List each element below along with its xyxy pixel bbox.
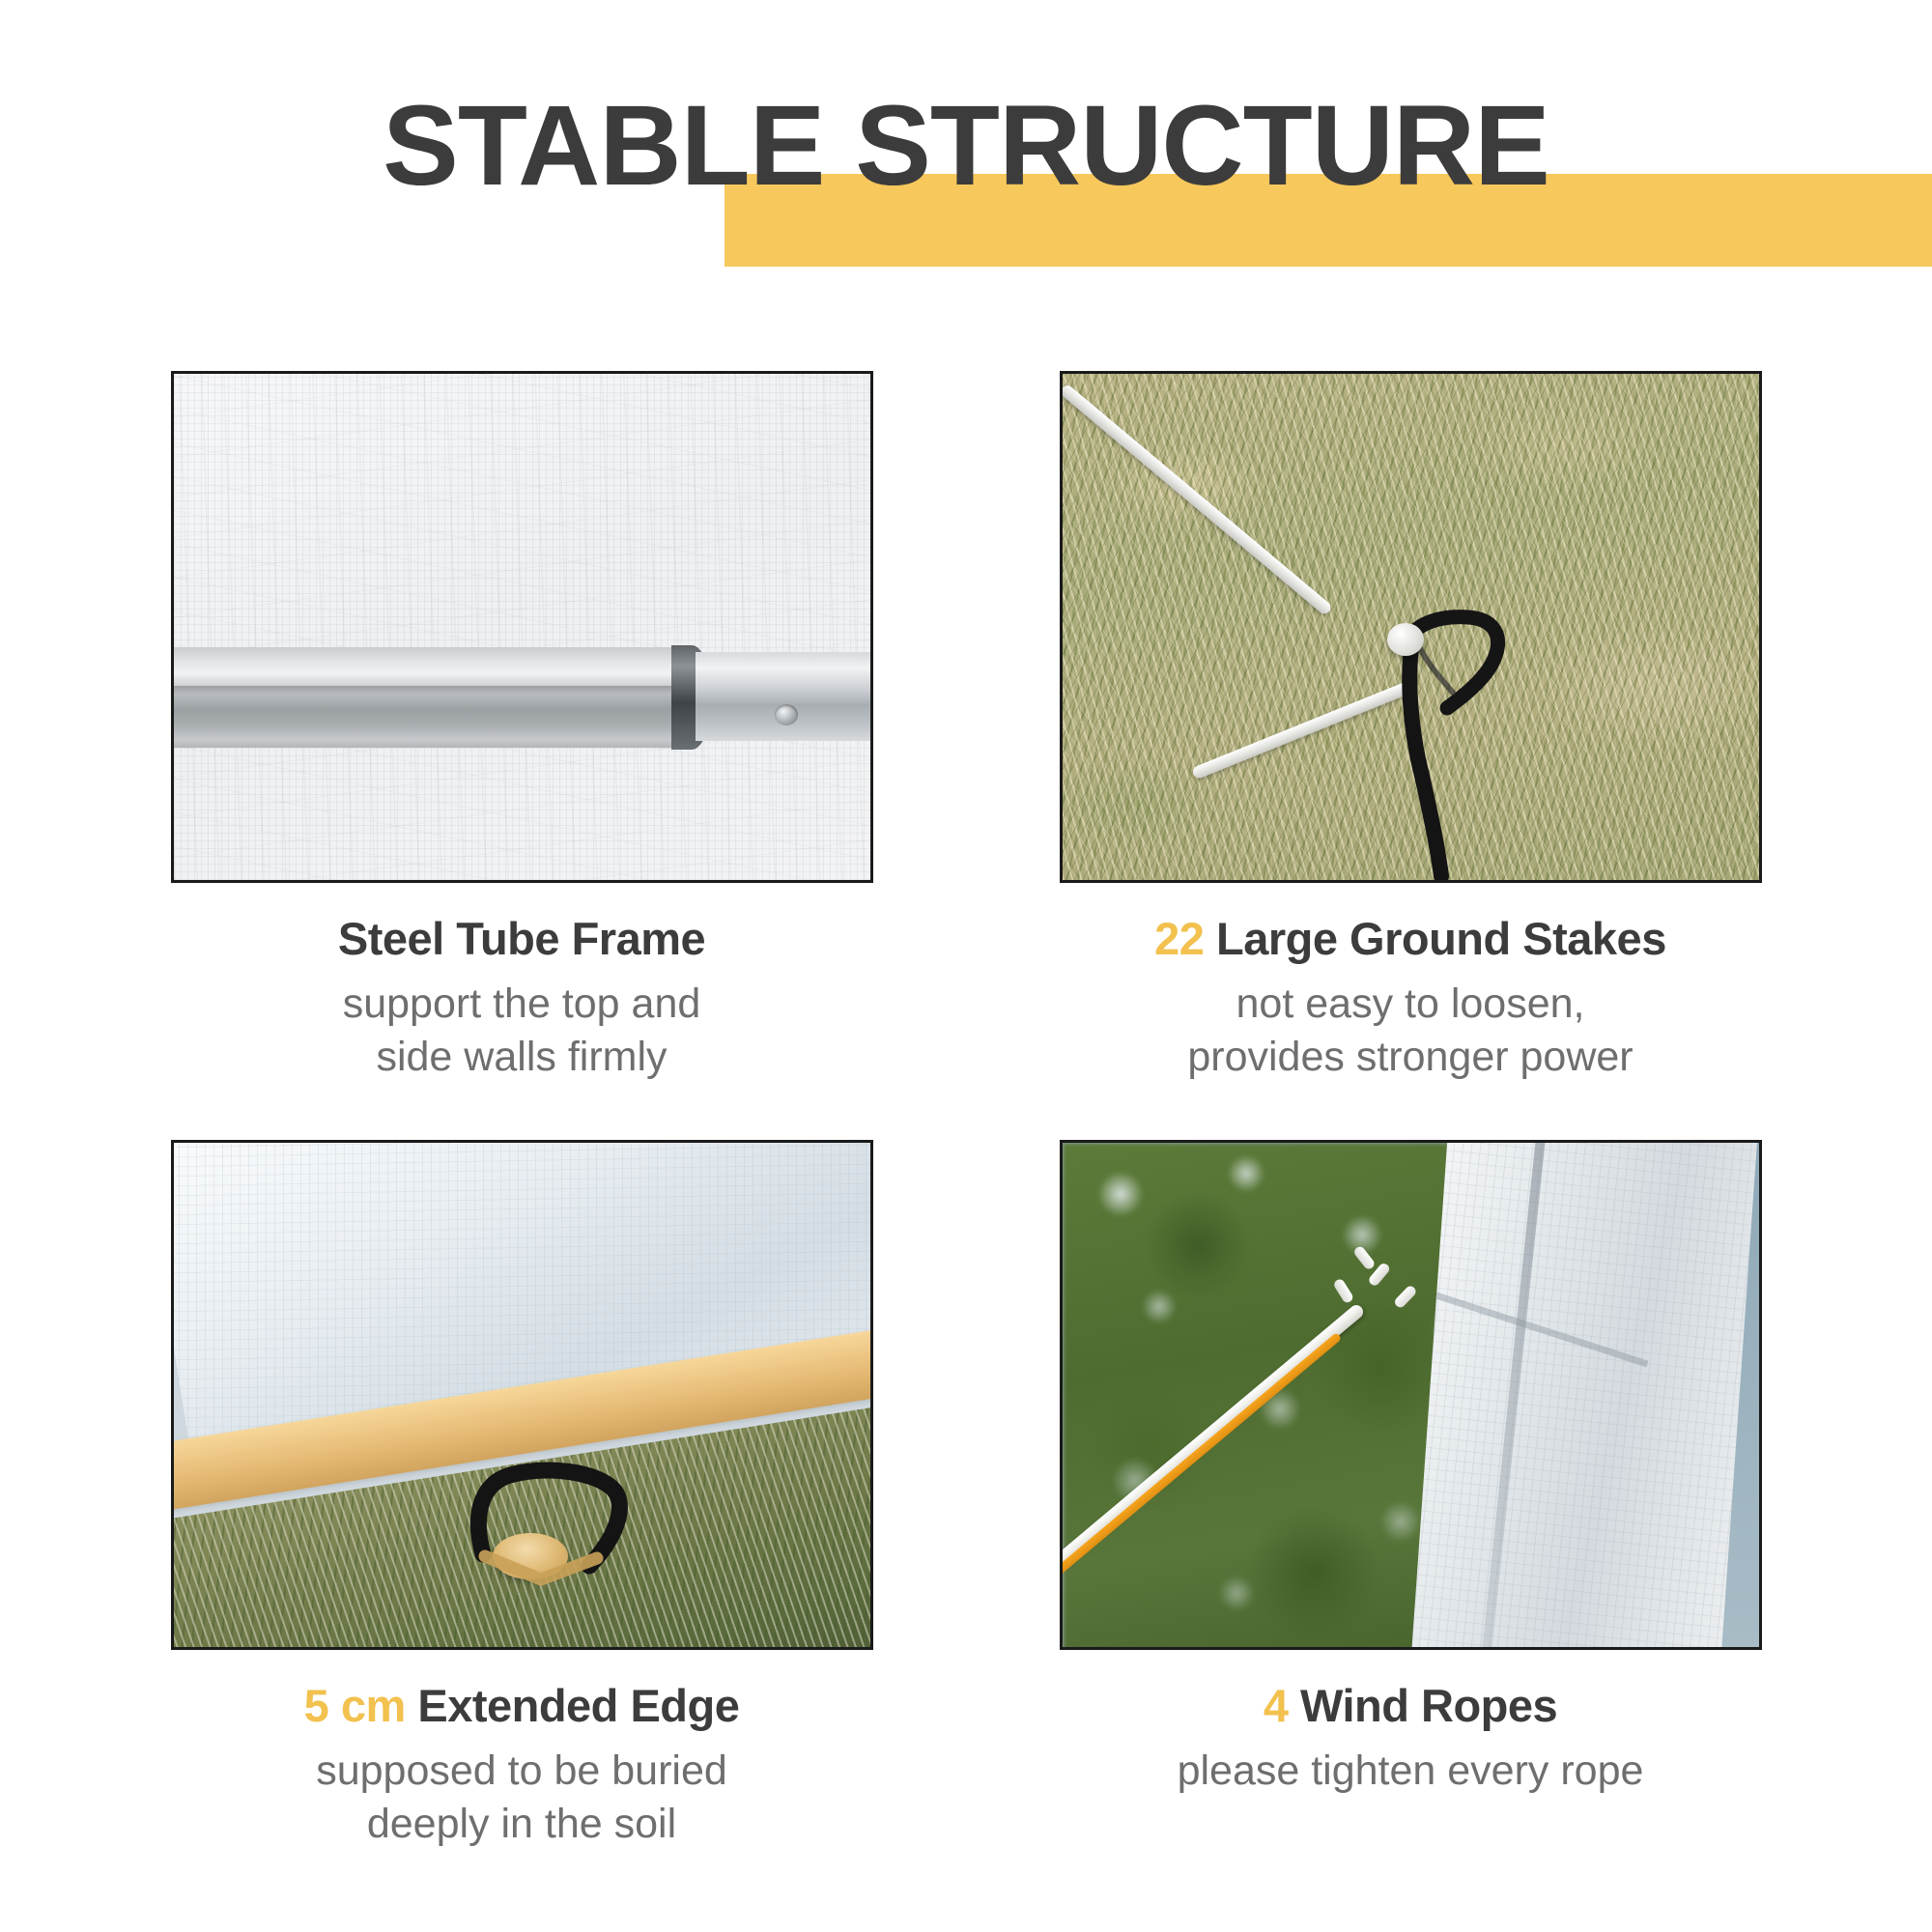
feature-title-text: Large Ground Stakes xyxy=(1216,913,1666,964)
feature-card-extended-edge: 5 cm Extended Edge supposed to be buried… xyxy=(106,1140,937,1851)
feature-subtitle-line-1: supposed to be buried xyxy=(126,1745,918,1798)
steel-tube-large-icon xyxy=(171,647,691,748)
feature-caption-steel-tube-frame: Steel Tube Frame support the top and sid… xyxy=(126,883,918,1084)
tarp-fabric-background xyxy=(174,374,870,880)
feature-caption-ground-stakes: 22 Large Ground Stakes not easy to loose… xyxy=(1014,883,1806,1084)
page-title: STABLE STRUCTURE xyxy=(0,85,1932,208)
tube-screw-icon xyxy=(775,704,798,725)
feature-title: 4 Wind Ropes xyxy=(1014,1679,1806,1733)
stake-loop-icon xyxy=(174,1143,873,1650)
page-header: STABLE STRUCTURE xyxy=(0,0,1932,290)
page-title-highlighted: STRUCTURE xyxy=(855,82,1549,210)
feature-subtitle-line-1: not easy to loosen, xyxy=(1014,978,1806,1031)
feature-title-text: Steel Tube Frame xyxy=(338,913,705,964)
steel-tube-small-icon xyxy=(696,652,873,741)
feature-subtitle-line-1: support the top and xyxy=(126,978,918,1031)
feature-title-text: Extended Edge xyxy=(417,1680,739,1731)
feature-photo-wind-ropes xyxy=(1060,1140,1762,1650)
feature-card-ground-stakes: 22 Large Ground Stakes not easy to loose… xyxy=(995,371,1826,1084)
feature-photo-steel-tube-frame xyxy=(171,371,873,883)
feature-title: 5 cm Extended Edge xyxy=(126,1679,918,1733)
tent-canopy-panel xyxy=(1409,1140,1758,1650)
feature-grid: Steel Tube Frame support the top and sid… xyxy=(0,290,1932,1932)
feature-photo-ground-stakes xyxy=(1060,371,1762,883)
feature-accent-value: 4 xyxy=(1264,1680,1289,1731)
feature-subtitle: support the top and side walls firmly xyxy=(126,978,918,1084)
feature-subtitle: supposed to be buried deeply in the soil xyxy=(126,1745,918,1851)
feature-title: 22 Large Ground Stakes xyxy=(1014,912,1806,966)
feature-accent-value: 22 xyxy=(1154,913,1204,964)
feature-caption-extended-edge: 5 cm Extended Edge supposed to be buried… xyxy=(126,1650,918,1851)
feature-card-wind-ropes: 4 Wind Ropes please tighten every rope xyxy=(995,1140,1826,1798)
feature-subtitle-line-2: side walls firmly xyxy=(126,1031,918,1084)
feature-caption-wind-ropes: 4 Wind Ropes please tighten every rope xyxy=(1014,1650,1806,1798)
feature-subtitle-line-1: please tighten every rope xyxy=(1014,1745,1806,1798)
feature-title-text: Wind Ropes xyxy=(1300,1680,1557,1731)
feature-accent-value: 5 cm xyxy=(304,1680,406,1731)
feature-subtitle-line-2: deeply in the soil xyxy=(126,1798,918,1851)
rope-tie-knot-icon xyxy=(1352,1247,1378,1330)
feature-title: Steel Tube Frame xyxy=(126,912,918,966)
rope-knot-icon xyxy=(1387,623,1424,656)
feature-subtitle: please tighten every rope xyxy=(1014,1745,1806,1798)
feature-card-steel-tube-frame: Steel Tube Frame support the top and sid… xyxy=(106,371,937,1084)
feature-subtitle: not easy to loosen, provides stronger po… xyxy=(1014,978,1806,1084)
feature-photo-extended-edge xyxy=(171,1140,873,1650)
page-title-plain: STABLE xyxy=(383,82,855,210)
feature-subtitle-line-2: provides stronger power xyxy=(1014,1031,1806,1084)
